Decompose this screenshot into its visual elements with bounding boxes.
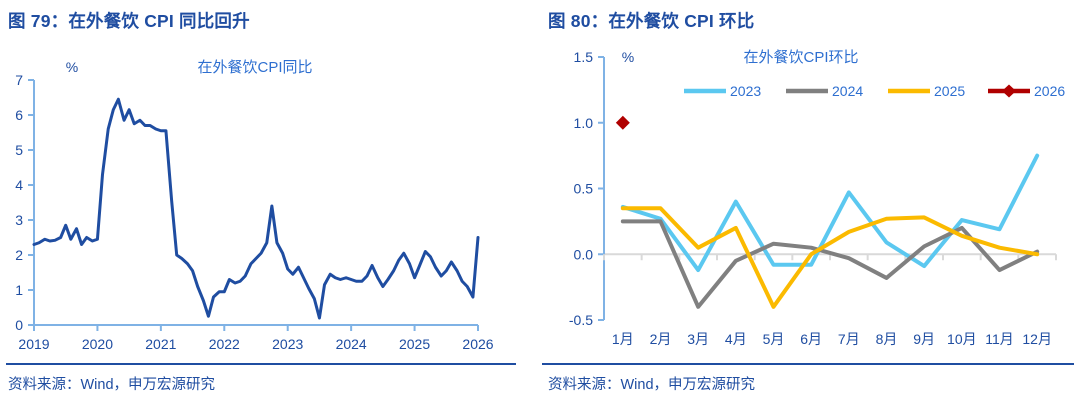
x-axis-tick-label: 2025 [399,336,430,352]
x-axis-tick-label: 3月 [687,331,709,347]
right-source-text: 资料来源：Wind，申万宏源研究 [548,373,755,394]
chart-cpi-mom: %在外餐饮CPI环比2023202420252026-0.50.00.51.01… [536,0,1080,360]
x-axis-tick-label: 1月 [612,331,634,347]
y-axis-tick-label: 4 [15,177,23,193]
y-axis-tick-label: 6 [15,107,23,123]
legend-item-2026: 2026 [988,83,1065,99]
left-footer-divider [6,363,516,365]
x-axis-tick-label: 4月 [725,331,747,347]
x-axis-tick-label: 2024 [336,336,367,352]
x-axis-tick-label: 2023 [272,336,303,352]
x-axis-tick-label: 2021 [145,336,176,352]
chart-cpi-yoy: %在外餐饮CPI同比012345672019202020212022202320… [0,0,522,360]
x-axis-tick-label: 9月 [913,331,935,347]
right-chart-heading: 在外餐饮CPI环比 [743,49,858,66]
x-axis-tick-label: 7月 [838,331,860,347]
legend-label-2026: 2026 [1034,83,1065,99]
left-source-text: 资料来源：Wind，申万宏源研究 [8,373,215,394]
x-axis-tick-label: 2019 [18,336,49,352]
x-axis-tick-label: 2020 [82,336,113,352]
legend-item-2023: 2023 [684,83,761,99]
y-axis-tick-label: -0.5 [569,312,593,328]
x-axis-tick-label: 2月 [650,331,672,347]
y-axis-tick-label: 1.5 [574,49,594,65]
left-chart-heading: 在外餐饮CPI同比 [197,59,312,76]
legend-label-2025: 2025 [934,83,965,99]
legend-item-2025: 2025 [888,83,965,99]
y-axis-tick-label: 5 [15,142,23,158]
x-axis-tick-label: 2022 [209,336,240,352]
x-axis-tick-label: 11月 [985,331,1014,347]
y-axis-tick-label: 0.0 [574,246,594,262]
y-axis-tick-label: 7 [15,72,23,88]
x-axis-tick-label: 8月 [876,331,898,347]
panel-separator [522,0,536,401]
legend-marker-2026 [1002,85,1016,98]
legend-label-2024: 2024 [832,83,863,99]
y-axis-tick-label: 0 [15,317,23,333]
x-axis-tick-label: 12月 [1022,331,1052,347]
cpi-mom-svg: %在外餐饮CPI环比2023202420252026-0.50.00.51.01… [536,0,1080,360]
x-axis-tick-label: 10月 [947,331,977,347]
x-axis-tick-label: 6月 [800,331,822,347]
series-marker-2026 [616,116,630,130]
legend-label-2023: 2023 [730,83,761,99]
y-axis-tick-label: 3 [15,212,23,228]
y-axis-tick-label: 1.0 [574,115,594,131]
legend-item-2024: 2024 [786,83,863,99]
figure-page: 图 79：在外餐饮 CPI 同比回升 %在外餐饮CPI同比01234567201… [0,0,1080,401]
right-unit-label: % [622,49,634,65]
y-axis-tick-label: 2 [15,247,23,263]
left-unit-label: % [66,59,78,75]
y-axis-tick-label: 0.5 [574,181,594,197]
x-axis-tick-label: 5月 [763,331,785,347]
series-line-cpi-yoy [34,99,478,318]
right-footer-divider [542,363,1074,365]
panel-figure-80: 图 80：在外餐饮 CPI 环比 %在外餐饮CPI环比2023202420252… [536,0,1080,401]
cpi-yoy-svg: %在外餐饮CPI同比012345672019202020212022202320… [0,0,522,360]
panel-figure-79: 图 79：在外餐饮 CPI 同比回升 %在外餐饮CPI同比01234567201… [0,0,522,401]
y-axis-tick-label: 1 [15,282,23,298]
x-axis-tick-label: 2026 [462,336,493,352]
